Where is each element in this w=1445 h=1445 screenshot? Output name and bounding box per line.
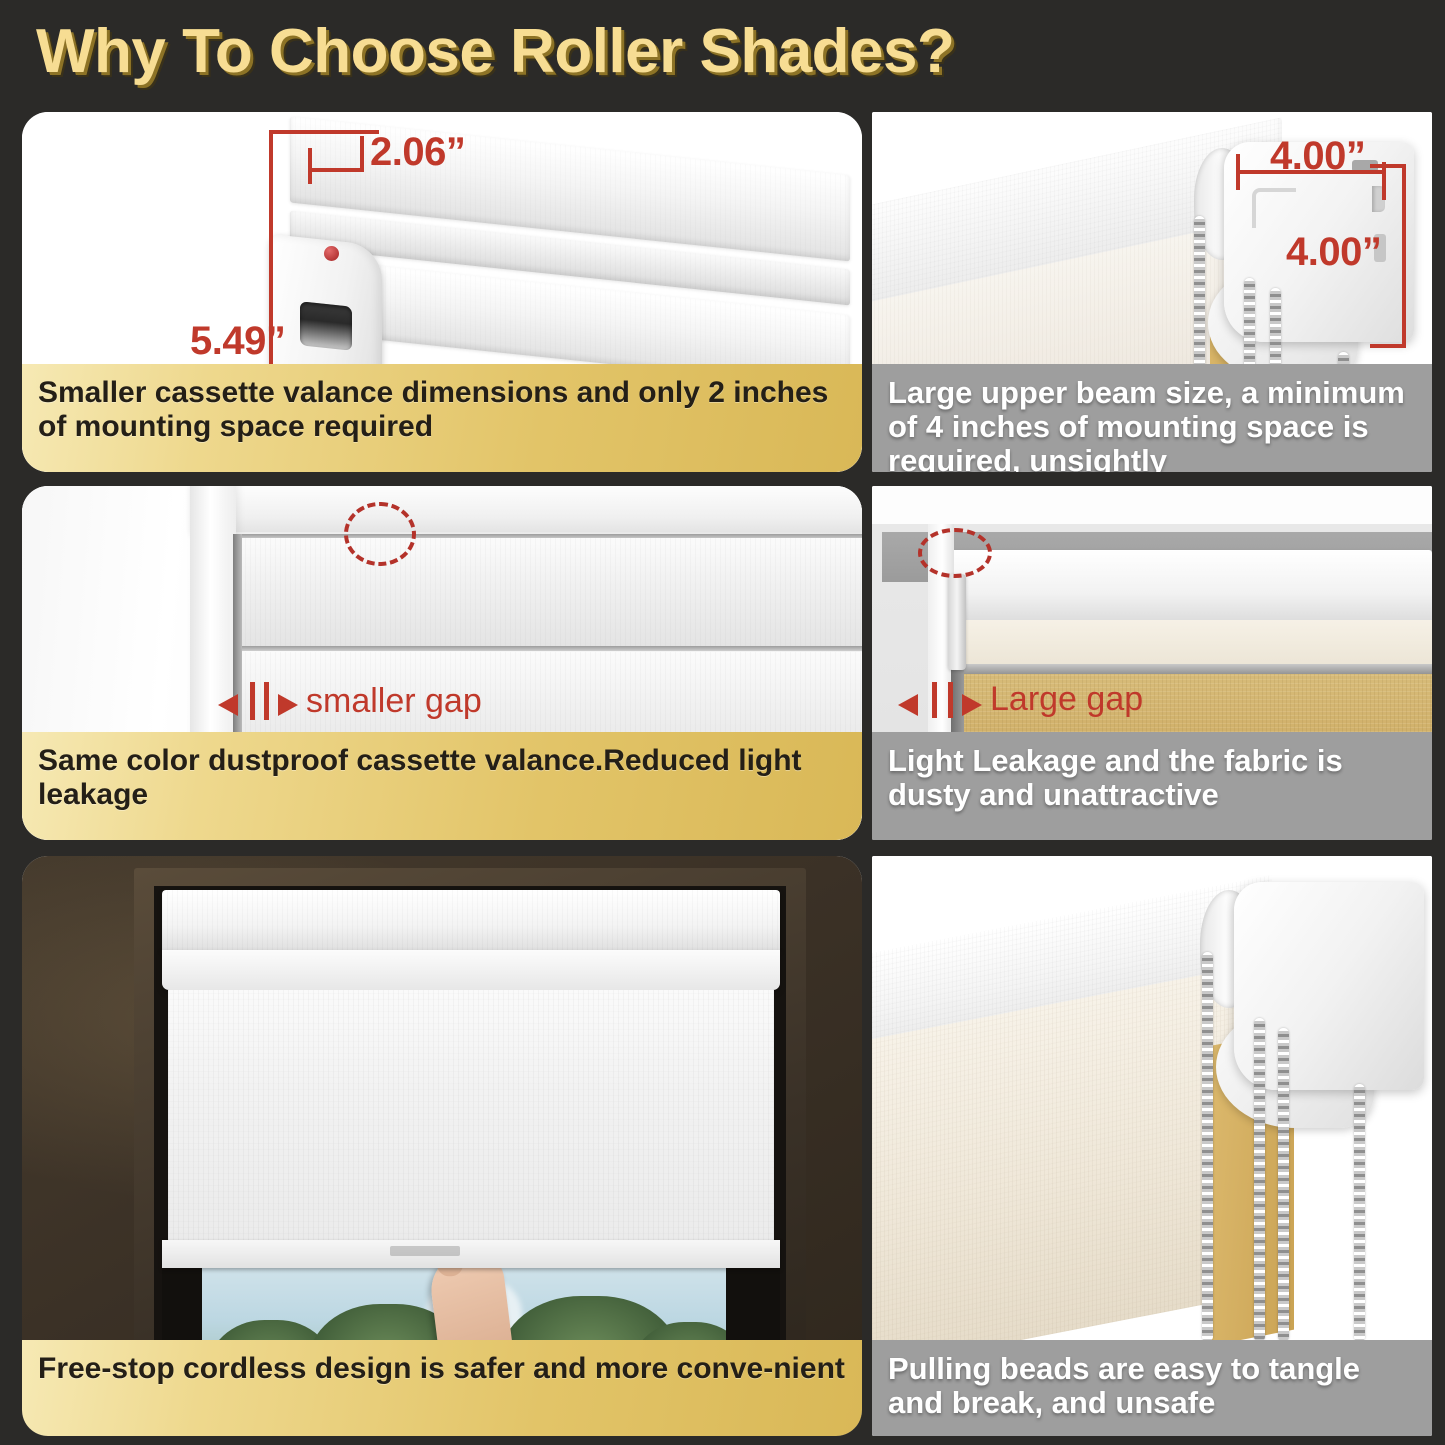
height-dimension-label: 4.00” [1286,230,1381,275]
bead-chain-front [1202,952,1213,1342]
valance-lip [162,950,780,990]
bead-chain-tail [1354,1084,1365,1342]
beige-fabric [872,965,1252,1377]
window-head-trim [190,486,862,532]
shade-fabric [168,990,774,1240]
panel-5-caption: Free-stop cordless design is safer and m… [22,1340,862,1436]
red-pin-marker [324,246,339,261]
panel-4-caption: Light Leakage and the fabric is dusty an… [872,732,1432,840]
height-dimension-label: 5.49” [190,319,285,364]
comparison-grid: 5.49” 2.06” Smaller cassette valance dim… [0,108,1445,1445]
smaller-gap-label: smaller gap [306,682,482,721]
gap-highlight-circle [344,502,416,566]
bead-chain-mid [1254,1018,1265,1342]
panel-dustproof-valance: smaller gap Same color dustproof cassett… [22,486,862,840]
brand-mark [390,1246,460,1256]
large-gap-label: Large gap [990,680,1143,719]
panel-3-caption: Same color dustproof cassette valance.Re… [22,732,862,840]
page-title: Why To Choose Roller Shades? [36,16,954,87]
bead-chain-back [1278,1028,1289,1342]
panel-cordless-design: Free-stop cordless design is safer and m… [22,856,862,1436]
panel-smaller-cassette: 5.49” 2.06” Smaller cassette valance dim… [22,112,862,472]
panel-1-caption: Smaller cassette valance dimensions and … [22,364,862,472]
panel-6-caption: Pulling beads are easy to tangle and bre… [872,1340,1432,1436]
upper-beam [950,550,1432,628]
valance-front [240,538,862,646]
panel-pulling-beads: Pulling beads are easy to tangle and bre… [872,856,1432,1436]
bottom-rail [162,1240,780,1268]
width-dimension-label: 4.00” [1270,134,1365,179]
cassette-valance [162,890,780,950]
panel-light-leakage: Large gap Light Leakage and the fabric i… [872,486,1432,840]
panel-2-caption: Large upper beam size, a minimum of 4 in… [872,364,1432,472]
panel-large-beam: 4.00” 4.00” Large upper beam size, a min… [872,112,1432,472]
cream-fascia [950,620,1432,666]
title-bar: Why To Choose Roller Shades? [0,0,1445,108]
bracket-hook [948,574,966,670]
width-dimension-label: 2.06” [370,130,465,175]
gap-highlight-circle [918,528,992,578]
